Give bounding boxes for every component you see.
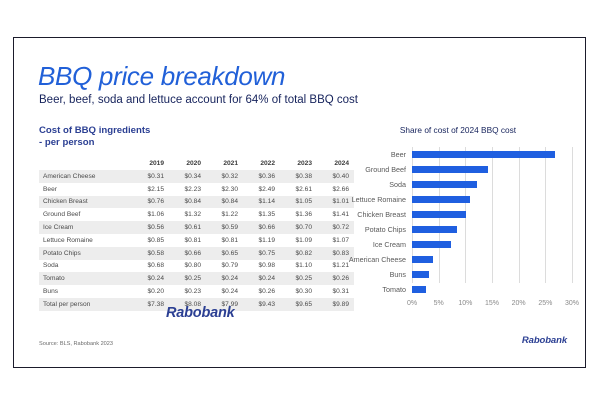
cost-table-cell: $0.23 — [169, 285, 206, 298]
cost-table-cell: $1.36 — [280, 208, 317, 221]
cost-table-cell: $0.66 — [243, 221, 280, 234]
table-row: Chicken Breast$0.76$0.84$0.84$1.14$1.05$… — [39, 196, 354, 209]
cost-table-header-row: 201920202021202220232024 — [39, 157, 354, 170]
cost-table-cell: $0.38 — [280, 170, 317, 183]
table-row: Potato Chips$0.58$0.66$0.65$0.75$0.82$0.… — [39, 247, 354, 260]
cost-table-cell: $0.24 — [206, 285, 243, 298]
cost-table-col-header-year: 2022 — [243, 157, 280, 170]
chart-x-tick-label: 5% — [434, 300, 444, 307]
share-chart-block: Share of cost of 2024 BBQ cost BeerGroun… — [344, 125, 572, 297]
cost-table-cell: $1.09 — [280, 234, 317, 247]
cost-table-cell: $2.15 — [132, 183, 169, 196]
page-title: BBQ price breakdown — [38, 61, 285, 92]
chart-category-label: Ground Beef — [344, 165, 412, 174]
cost-table-cell: $9.65 — [280, 298, 317, 311]
table-row: Buns$0.20$0.23$0.24$0.26$0.30$0.31 — [39, 285, 354, 298]
rabobank-logo-corner: Rabobank — [522, 335, 567, 346]
chart-x-tick-label: 30% — [565, 300, 579, 307]
chart-bar-track — [412, 207, 572, 222]
cost-table-row-label: Total per person — [39, 298, 132, 311]
chart-bar — [412, 286, 426, 294]
cost-table-cell: $0.68 — [132, 260, 169, 273]
chart-category-label: Chicken Breast — [344, 210, 412, 219]
chart-category-label: Ice Cream — [344, 240, 412, 249]
cost-table-cell: $0.98 — [243, 260, 280, 273]
cost-table-cell: $0.56 — [132, 221, 169, 234]
table-row: American Cheese$0.31$0.34$0.32$0.36$0.38… — [39, 170, 354, 183]
chart-bar-track — [412, 237, 572, 252]
page-subtitle: Beer, beef, soda and lettuce account for… — [39, 94, 358, 106]
table-row: Beer$2.15$2.23$2.30$2.49$2.61$2.66 — [39, 183, 354, 196]
slide-canvas: BBQ price breakdown Beer, beef, soda and… — [13, 37, 586, 368]
cost-table-cell: $0.24 — [243, 272, 280, 285]
chart-gridline — [572, 147, 573, 283]
chart-category-label: Soda — [344, 180, 412, 189]
chart-x-axis: 0%5%10%15%20%25%30% — [412, 297, 572, 311]
cost-table-cell: $9.89 — [317, 298, 354, 311]
cost-table-cell: $2.30 — [206, 183, 243, 196]
chart-bar — [412, 151, 555, 159]
chart-bar-row: American Cheese — [344, 252, 572, 267]
cost-table-col-header-year: 2021 — [206, 157, 243, 170]
cost-table-cell: $1.22 — [206, 208, 243, 221]
cost-table-cell: $0.32 — [206, 170, 243, 183]
cost-table: 201920202021202220232024 American Cheese… — [39, 157, 354, 311]
cost-table-row-label: Ice Cream — [39, 221, 132, 234]
chart-bar-track — [412, 222, 572, 237]
cost-table-heading: Cost of BBQ ingredients - per person — [39, 125, 319, 148]
chart-bar — [412, 256, 433, 264]
cost-table-row-label: Buns — [39, 285, 132, 298]
cost-table-cell: $0.79 — [206, 260, 243, 273]
cost-table-cell: $0.31 — [132, 170, 169, 183]
table-row: Tomato$0.24$0.25$0.24$0.24$0.25$0.26 — [39, 272, 354, 285]
cost-table-cell: $0.30 — [280, 285, 317, 298]
chart-category-label: Tomato — [344, 285, 412, 294]
cost-table-row-label: Potato Chips — [39, 247, 132, 260]
chart-x-tick-label: 15% — [485, 300, 499, 307]
cost-table-cell: $0.65 — [206, 247, 243, 260]
cost-table-body: American Cheese$0.31$0.34$0.32$0.36$0.38… — [39, 170, 354, 311]
chart-bar-row: Chicken Breast — [344, 207, 572, 222]
cost-table-row-label: American Cheese — [39, 170, 132, 183]
cost-table-heading-line1: Cost of BBQ ingredients — [39, 125, 319, 137]
chart-bar-row: Lettuce Romaine — [344, 192, 572, 207]
cost-table-cell: $0.20 — [132, 285, 169, 298]
cost-table-col-header-year: 2019 — [132, 157, 169, 170]
cost-table-cell: $2.23 — [169, 183, 206, 196]
cost-table-row-label: Tomato — [39, 272, 132, 285]
cost-table-cell: $1.14 — [243, 196, 280, 209]
chart-bar-row: Buns — [344, 267, 572, 282]
cost-table-cell: $0.34 — [169, 170, 206, 183]
cost-table-cell: $0.59 — [206, 221, 243, 234]
chart-bar-row: Ice Cream — [344, 237, 572, 252]
cost-table-cell: $0.75 — [243, 247, 280, 260]
chart-bar — [412, 241, 451, 249]
chart-plot-area: BeerGround BeefSodaLettuce RomaineChicke… — [344, 147, 572, 297]
chart-bar-track — [412, 282, 572, 297]
chart-bar — [412, 226, 457, 234]
cost-table-cell: $0.84 — [206, 196, 243, 209]
cost-table-cell: $0.81 — [169, 234, 206, 247]
cost-table-cell: $0.24 — [206, 272, 243, 285]
chart-bar-track — [412, 267, 572, 282]
cost-table-cell: $2.49 — [243, 183, 280, 196]
cost-table-cell: $0.80 — [169, 260, 206, 273]
cost-table-cell: $1.19 — [243, 234, 280, 247]
cost-table-heading-line2: - per person — [39, 137, 319, 149]
chart-bar-track — [412, 177, 572, 192]
chart-bar — [412, 166, 488, 174]
chart-bar — [412, 181, 477, 189]
cost-table-cell: $0.61 — [169, 221, 206, 234]
cost-table-cell: $9.43 — [243, 298, 280, 311]
cost-table-cell: $7.38 — [132, 298, 169, 311]
cost-table-col-header-year: 2023 — [280, 157, 317, 170]
chart-bar-row: Beer — [344, 147, 572, 162]
chart-x-tick-label: 10% — [458, 300, 472, 307]
cost-table-row-label: Ground Beef — [39, 208, 132, 221]
chart-category-label: Lettuce Romaine — [344, 195, 412, 204]
chart-category-label: Buns — [344, 270, 412, 279]
chart-bar-row: Potato Chips — [344, 222, 572, 237]
table-row: Lettuce Romaine$0.85$0.81$0.81$1.19$1.09… — [39, 234, 354, 247]
table-row: Ice Cream$0.56$0.61$0.59$0.66$0.70$0.72 — [39, 221, 354, 234]
cost-table-cell: $0.26 — [243, 285, 280, 298]
cost-table-cell: $0.36 — [243, 170, 280, 183]
chart-category-label: American Cheese — [344, 255, 412, 264]
cost-table-cell: $0.85 — [132, 234, 169, 247]
cost-table-cell: $0.70 — [280, 221, 317, 234]
chart-bar — [412, 271, 429, 279]
cost-table-cell: $0.25 — [169, 272, 206, 285]
cost-table-head: 201920202021202220232024 — [39, 157, 354, 170]
cost-table-block: Cost of BBQ ingredients - per person 201… — [39, 125, 319, 311]
cost-table-row-label: Beer — [39, 183, 132, 196]
table-row: Soda$0.68$0.80$0.79$0.98$1.10$1.21 — [39, 260, 354, 273]
cost-table-cell: $0.84 — [169, 196, 206, 209]
cost-table-row-label: Lettuce Romaine — [39, 234, 132, 247]
chart-bar-track — [412, 162, 572, 177]
cost-table-cell: $0.76 — [132, 196, 169, 209]
chart-bar-row: Soda — [344, 177, 572, 192]
cost-table-cell: $0.81 — [206, 234, 243, 247]
rabobank-logo-center: Rabobank — [166, 305, 235, 321]
cost-table-cell: $1.35 — [243, 208, 280, 221]
source-note: Source: BLS, Rabobank 2023 — [39, 341, 113, 347]
chart-x-tick-label: 20% — [512, 300, 526, 307]
cost-table-cell: $0.24 — [132, 272, 169, 285]
cost-table-row-label: Soda — [39, 260, 132, 273]
cost-table-cell: $1.10 — [280, 260, 317, 273]
chart-x-tick-label: 0% — [407, 300, 417, 307]
cost-table-col-header-label — [39, 157, 132, 170]
cost-table-cell: $0.58 — [132, 247, 169, 260]
chart-bar-rows: BeerGround BeefSodaLettuce RomaineChicke… — [344, 147, 572, 297]
cost-table-cell: $1.05 — [280, 196, 317, 209]
cost-table-cell: $1.06 — [132, 208, 169, 221]
chart-bar-track — [412, 192, 572, 207]
chart-x-tick-label: 25% — [538, 300, 552, 307]
chart-bar-row: Ground Beef — [344, 162, 572, 177]
chart-category-label: Beer — [344, 150, 412, 159]
chart-bar — [412, 211, 466, 219]
cost-table-col-header-year: 2020 — [169, 157, 206, 170]
cost-table-cell: $0.66 — [169, 247, 206, 260]
chart-bar-track — [412, 252, 572, 267]
cost-table-cell: $0.82 — [280, 247, 317, 260]
cost-table-cell: $2.61 — [280, 183, 317, 196]
chart-category-label: Potato Chips — [344, 225, 412, 234]
chart-bar-track — [412, 147, 572, 162]
cost-table-cell: $1.32 — [169, 208, 206, 221]
chart-bar-row: Tomato — [344, 282, 572, 297]
chart-title: Share of cost of 2024 BBQ cost — [344, 125, 572, 135]
cost-table-cell: $0.25 — [280, 272, 317, 285]
cost-table-row-label: Chicken Breast — [39, 196, 132, 209]
chart-bar — [412, 196, 470, 204]
table-row: Ground Beef$1.06$1.32$1.22$1.35$1.36$1.4… — [39, 208, 354, 221]
